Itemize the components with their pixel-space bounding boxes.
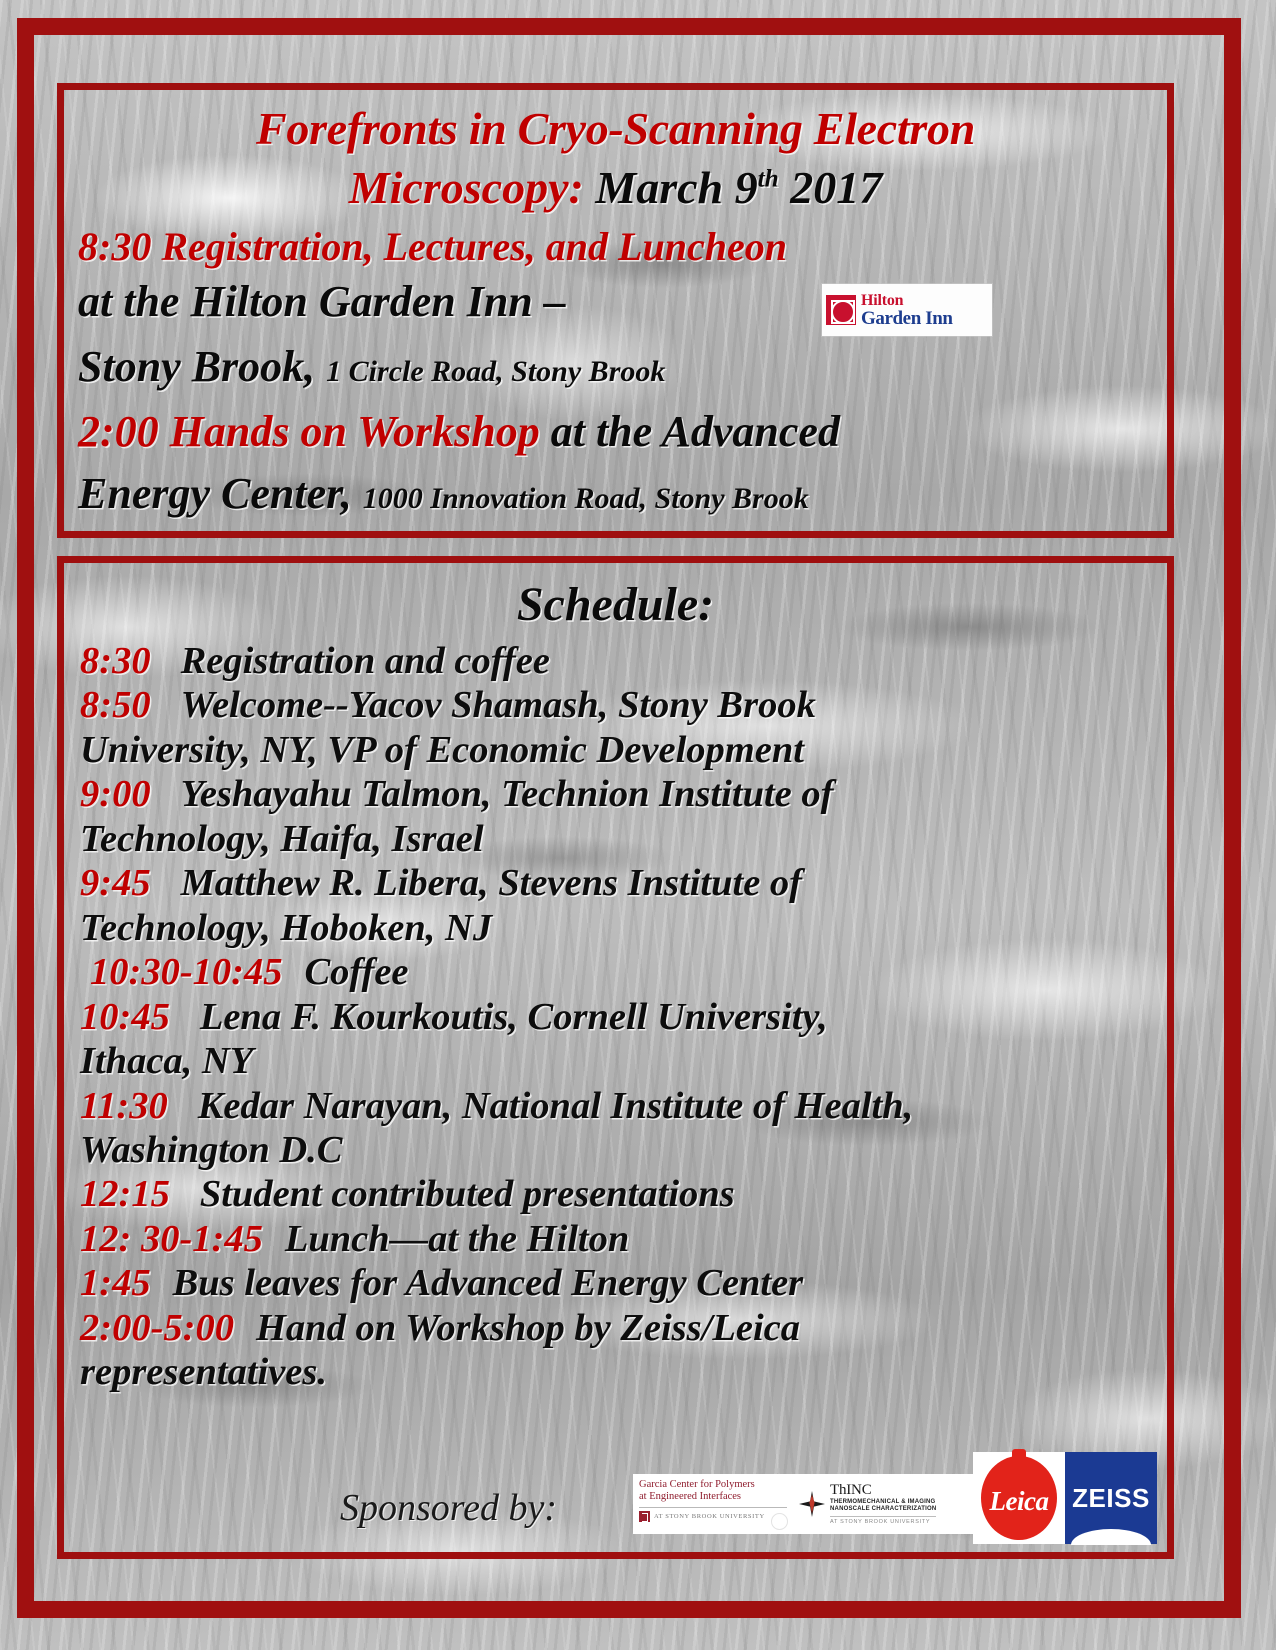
schedule-row-description: Technology, Haifa, Israel: [80, 818, 484, 860]
poster-title-line-1: Forefronts in Cryo-Scanning Electron: [64, 106, 1167, 152]
venue-stony-brook-line: Stony Brook, 1 Circle Road, Stony Brook: [78, 345, 665, 389]
workshop-line: 2:00 Hands on Workshop at the Advanced: [78, 410, 840, 454]
schedule-row: 9:45Matthew R. Libera, Stevens Institute…: [80, 861, 1155, 905]
schedule-row-description: Kedar Narayan, National Institute of Hea…: [198, 1085, 914, 1127]
schedule-row-description: Coffee: [304, 951, 408, 993]
schedule-row-description: Washington D.C: [80, 1129, 342, 1171]
schedule-row-time: 2:00-5:00: [80, 1307, 234, 1349]
schedule-row-time: 1:45: [80, 1262, 151, 1304]
schedule-row-description: Registration and coffee: [181, 640, 550, 682]
hilton-garden-inn-logo: Hilton Garden Inn: [822, 284, 992, 336]
schedule-row: Technology, Haifa, Israel: [80, 817, 1155, 861]
schedule-row: Technology, Hoboken, NJ: [80, 906, 1155, 950]
schedule-row: Ithaca, NY: [80, 1039, 1155, 1083]
schedule-panel: Schedule: 8:30Registration and coffee8:5…: [57, 556, 1174, 1559]
schedule-row-description: Matthew R. Libera, Stevens Institute of: [181, 862, 802, 904]
schedule-row-description: University, NY, VP of Economic Developme…: [80, 729, 804, 771]
thinc-logo-text: ThINC THERMOMECHANICAL & IMAGING NANOSCA…: [830, 1483, 936, 1525]
hilton-logo-word-hilton: Hilton: [861, 293, 953, 309]
garcia-logo-line-2: at Engineered Interfaces: [639, 1491, 787, 1503]
workshop-time-label: 2:00 Hands on Workshop: [78, 407, 540, 456]
event-date-ordinal-suffix: th: [758, 165, 779, 193]
venue-name-bold: Stony Brook,: [78, 342, 315, 391]
schedule-row-time: 12:15: [80, 1173, 170, 1215]
schedule-row-description: Technology, Hoboken, NJ: [80, 907, 492, 949]
schedule-row-description: Yeshayahu Talmon, Technion Institute of: [181, 773, 834, 815]
schedule-row: 12:15Student contributed presentations: [80, 1172, 1155, 1216]
schedule-list: 8:30Registration and coffee8:50Welcome--…: [80, 639, 1155, 1395]
schedule-row: University, NY, VP of Economic Developme…: [80, 728, 1155, 772]
schedule-row: 9:00Yeshayahu Talmon, Technion Institute…: [80, 772, 1155, 816]
garcia-center-logo: Garcia Center for Polymers at Engineered…: [633, 1474, 793, 1534]
sponsored-by-label: Sponsored by:: [340, 1486, 557, 1530]
schedule-row-description: Ithaca, NY: [80, 1040, 253, 1082]
schedule-row-time: 11:30: [80, 1085, 168, 1127]
leica-red-dot-icon: Leica: [981, 1456, 1057, 1540]
schedule-row-description: Lunch—at the Hilton: [285, 1218, 629, 1260]
event-date: March 9th 2017: [595, 162, 882, 213]
schedule-row: 10:45Lena F. Kourkoutis, Cornell Univers…: [80, 995, 1155, 1039]
schedule-row: representatives.: [80, 1350, 1155, 1394]
schedule-row-description: Student contributed presentations: [200, 1173, 735, 1215]
header-panel: Forefronts in Cryo-Scanning Electron Mic…: [57, 83, 1174, 538]
workshop-venue-label: at the Advanced: [551, 407, 840, 456]
thinc-star-icon: [799, 1491, 825, 1517]
poster-root: Forefronts in Cryo-Scanning Electron Mic…: [0, 0, 1276, 1650]
hilton-logo-word-garden-inn: Garden Inn: [861, 309, 953, 328]
energy-center-line: Energy Center, 1000 Innovation Road, Sto…: [78, 472, 809, 516]
schedule-row-description: Hand on Workshop by Zeiss/Leica: [256, 1307, 800, 1349]
garcia-logo-line-1: Garcia Center for Polymers: [639, 1479, 787, 1491]
schedule-row: 11:30Kedar Narayan, National Institute o…: [80, 1084, 1155, 1128]
garcia-logo-divider: [639, 1507, 787, 1508]
registration-lectures-luncheon-line: 8:30 Registration, Lectures, and Luncheo…: [78, 227, 787, 267]
poster-title-microscopy: Microscopy:: [349, 162, 584, 213]
stony-brook-mark-icon: [639, 1511, 650, 1522]
thinc-logo-divider: [830, 1516, 936, 1517]
event-date-prefix: March 9: [595, 162, 757, 213]
schedule-row: 2:00-5:00Hand on Workshop by Zeiss/Leica: [80, 1306, 1155, 1350]
zeiss-logo: ZEISS: [1065, 1452, 1157, 1544]
sponsor-bar: Sponsored by: Garcia Center for Polymers…: [80, 1452, 1157, 1544]
garcia-logo-affiliation: AT STONY BROOK UNIVERSITY: [654, 1513, 765, 1520]
schedule-row-time: 12: 30-1:45: [80, 1218, 263, 1260]
schedule-row-time: 8:50: [80, 684, 151, 726]
event-date-year: 2017: [790, 162, 882, 213]
garcia-logo-affiliation-row: AT STONY BROOK UNIVERSITY: [639, 1511, 787, 1522]
thinc-logo-affiliation: AT STONY BROOK UNIVERSITY: [830, 1519, 936, 1525]
schedule-row-time: 9:00: [80, 773, 151, 815]
energy-center-name: Energy Center,: [78, 469, 352, 518]
schedule-row-time: 10:45: [80, 996, 170, 1038]
hilton-knot-icon: [826, 295, 856, 325]
sponsor-logo-strip: Garcia Center for Polymers at Engineered…: [633, 1452, 1157, 1544]
schedule-row: 8:30Registration and coffee: [80, 639, 1155, 683]
schedule-row-description: Welcome--Yacov Shamash, Stony Brook: [181, 684, 816, 726]
schedule-row: 1:45Bus leaves for Advanced Energy Cente…: [80, 1261, 1155, 1305]
venue-address-1: 1 Circle Road, Stony Brook: [326, 355, 665, 388]
leica-logo: Leica: [973, 1452, 1065, 1544]
schedule-heading: Schedule:: [64, 577, 1167, 632]
schedule-row: 10:30-10:45Coffee: [80, 950, 1155, 994]
thinc-logo: ThINC THERMOMECHANICAL & IMAGING NANOSCA…: [793, 1474, 973, 1534]
thinc-logo-tagline-2: NANOSCALE CHARACTERIZATION: [830, 1506, 936, 1514]
schedule-row-description: representatives.: [80, 1351, 327, 1393]
schedule-row-time: 9:45: [80, 862, 151, 904]
schedule-row: 12: 30-1:45Lunch—at the Hilton: [80, 1217, 1155, 1261]
garcia-seal-icon: [771, 1513, 788, 1530]
thinc-logo-tagline-1: THERMOMECHANICAL & IMAGING: [830, 1499, 936, 1507]
leica-logo-wordmark: Leica: [990, 1486, 1049, 1517]
thinc-logo-name: ThINC: [830, 1483, 936, 1499]
venue-address-2: 1000 Innovation Road, Stony Brook: [363, 482, 809, 515]
schedule-row-description: Lena F. Kourkoutis, Cornell University,: [200, 996, 828, 1038]
hilton-logo-wordmark: Hilton Garden Inn: [861, 293, 953, 328]
schedule-row: 8:50Welcome--Yacov Shamash, Stony Brook: [80, 683, 1155, 727]
zeiss-logo-wordmark: ZEISS: [1072, 1483, 1150, 1514]
schedule-row: Washington D.C: [80, 1128, 1155, 1172]
venue-hilton-line: at the Hilton Garden Inn –: [78, 280, 566, 324]
schedule-row-description: Bus leaves for Advanced Energy Center: [173, 1262, 804, 1304]
schedule-row-time: 8:30: [80, 640, 151, 682]
schedule-row-time: 10:30-10:45: [90, 951, 282, 993]
poster-title-line-2: Microscopy: March 9th 2017: [64, 165, 1167, 211]
